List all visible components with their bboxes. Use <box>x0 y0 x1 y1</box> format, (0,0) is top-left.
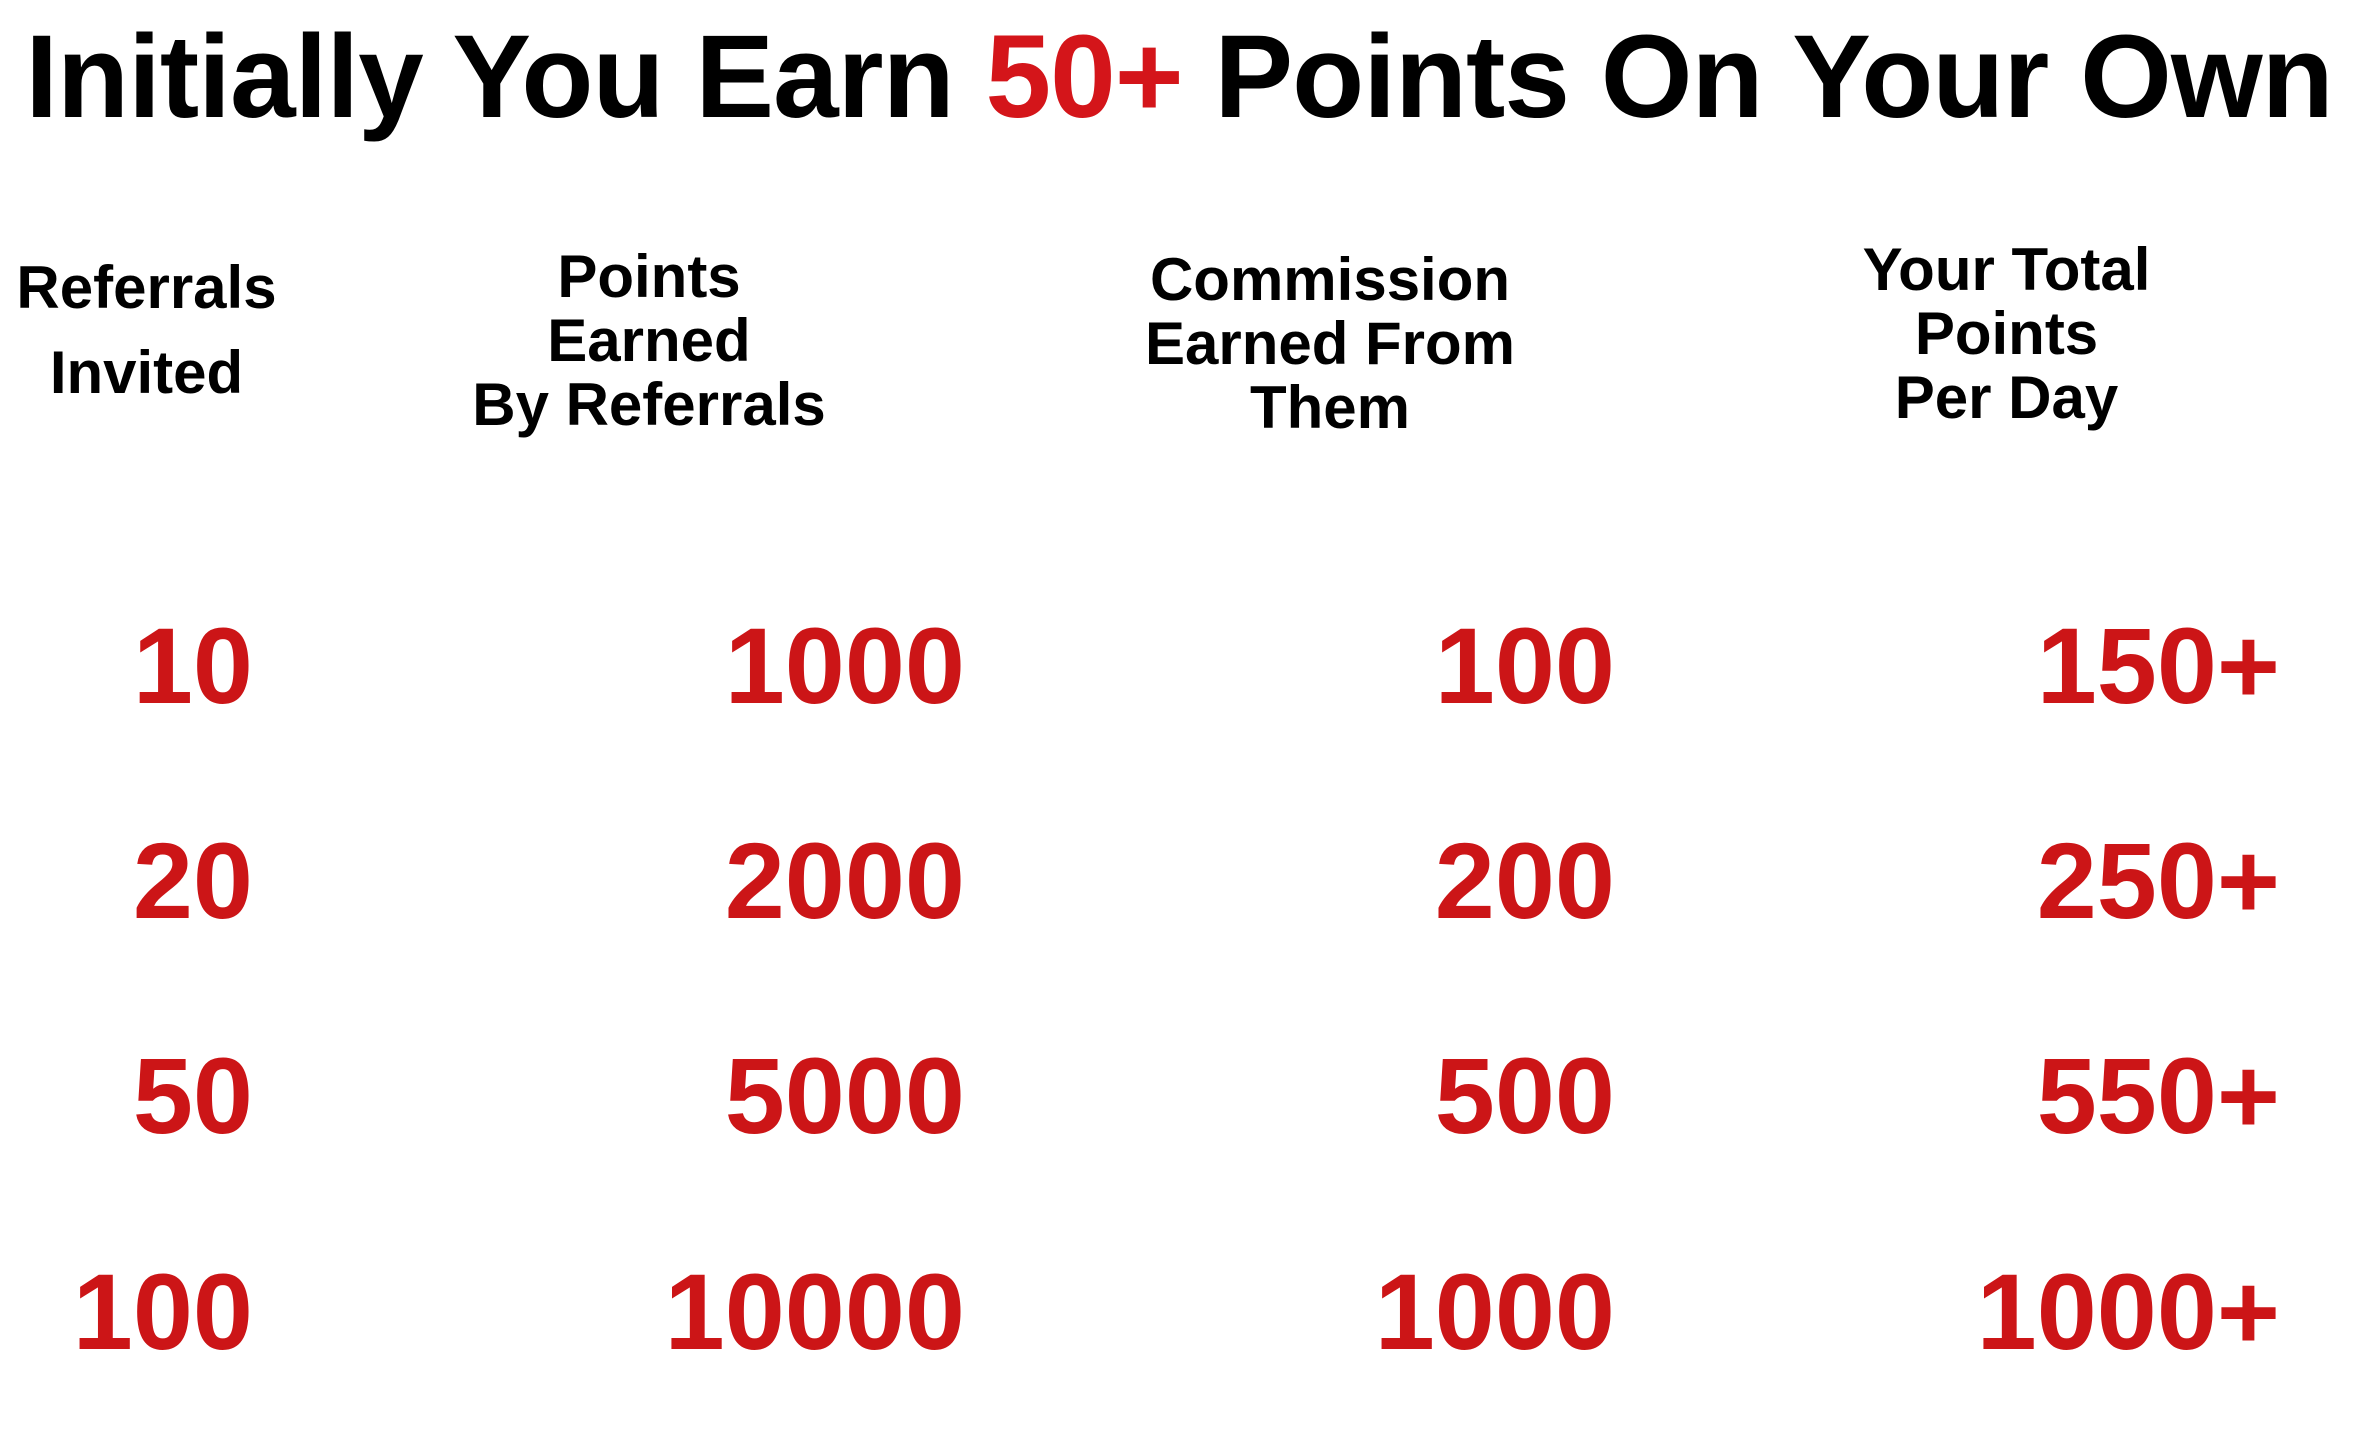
column-header-line: Per Day <box>1655 366 2358 430</box>
table-cell-referrals-invited: 100 <box>0 1258 253 1366</box>
table-cell-commission-earned-from-them: 100 <box>1005 612 1615 720</box>
column-header-points-earned-by-referrals: Points Earned By Referrals <box>293 245 1005 438</box>
column-header-line: Commission <box>1005 248 1655 312</box>
table-cell-commission-earned-from-them: 500 <box>1005 1042 1615 1150</box>
table-cell-your-total-points-per-day: 1000+ <box>1655 1258 2280 1366</box>
table-cell-commission-earned-from-them: 1000 <box>1005 1258 1615 1366</box>
column-header-commission-earned-from-them: Commission Earned From Them <box>1005 248 1655 441</box>
table-column-points-earned-by-referrals: Points Earned By Referrals 1000 2000 500… <box>293 0 1005 1432</box>
table-cell-referrals-invited: 20 <box>0 827 253 935</box>
column-header-line: Points <box>293 245 1005 309</box>
column-header-line: Points <box>1655 302 2358 366</box>
table-cell-points-earned-by-referrals: 5000 <box>293 1042 965 1150</box>
table-cell-points-earned-by-referrals: 2000 <box>293 827 965 935</box>
table-cell-points-earned-by-referrals: 1000 <box>293 612 965 720</box>
table-column-your-total-points-per-day: Your Total Points Per Day 150+ 250+ 550+… <box>1655 0 2358 1432</box>
column-header-your-total-points-per-day: Your Total Points Per Day <box>1655 238 2358 431</box>
column-header-line: Invited <box>0 330 293 415</box>
column-header-line: Referrals <box>0 245 293 330</box>
table-cell-referrals-invited: 10 <box>0 612 253 720</box>
referral-points-poster: Initially You Earn 50+ Points On Your Ow… <box>0 0 2358 1432</box>
table-cell-your-total-points-per-day: 150+ <box>1655 612 2280 720</box>
table-cell-referrals-invited: 50 <box>0 1042 253 1150</box>
table-column-commission-earned-from-them: Commission Earned From Them 100 200 500 … <box>1005 0 1655 1432</box>
column-header-line: By Referrals <box>293 373 1005 437</box>
column-header-line: Them <box>1005 376 1655 440</box>
table-column-referrals-invited: Referrals Invited 10 20 50 100 <box>0 0 293 1432</box>
column-header-line: Earned From <box>1005 312 1655 376</box>
column-header-line: Earned <box>293 309 1005 373</box>
table-cell-commission-earned-from-them: 200 <box>1005 827 1615 935</box>
table-cell-your-total-points-per-day: 550+ <box>1655 1042 2280 1150</box>
column-header-line: Your Total <box>1655 238 2358 302</box>
column-header-referrals-invited: Referrals Invited <box>0 245 293 415</box>
table-cell-points-earned-by-referrals: 10000 <box>293 1258 965 1366</box>
table-cell-your-total-points-per-day: 250+ <box>1655 827 2280 935</box>
